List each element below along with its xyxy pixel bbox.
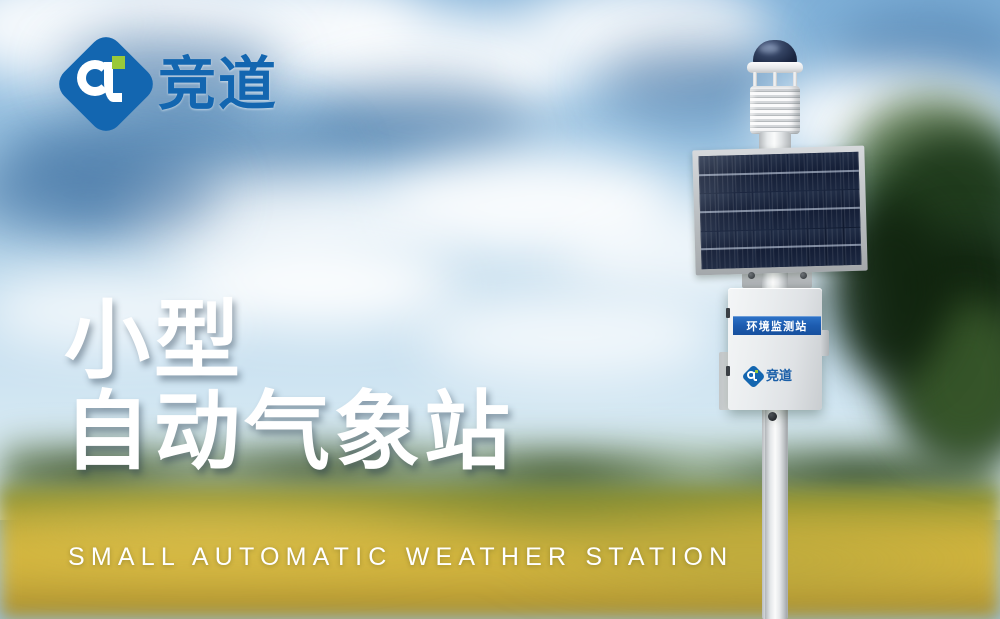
control-box-brand-text: 竞道 [766,370,792,383]
solar-panel [692,146,867,276]
brand-logo[interactable]: 竞道 [68,46,278,122]
brand-name: 竞道 [158,55,278,113]
jingdao-diamond-logo-icon [745,368,762,385]
mount-bolt [800,272,807,279]
connector-port [726,366,730,376]
control-box-right-tab [820,330,829,356]
logo-green-square [112,56,125,69]
control-box [728,288,822,410]
product-banner: 环境监测站 竞道 [0,0,1000,619]
control-box-banner: 环境监测站 [733,316,821,335]
headline-line-2: 自动气象站 [64,387,514,478]
radiation-shield [750,86,800,134]
jingdao-diamond-logo-icon [68,46,144,122]
subtitle: SMALL AUTOMATIC WEATHER STATION [68,543,733,572]
solar-cells [698,152,861,269]
mounting-pole-lower [765,410,787,619]
control-box-brand: 竞道 [745,368,792,385]
headline: 小型 自动气象站 [64,296,514,478]
mount-bolt [748,272,755,279]
headline-line-1: 小型 [64,296,514,387]
pole-bolt [768,412,777,421]
connector-port [726,308,730,318]
solar-panel-frame [692,146,867,276]
control-box-banner-text: 环境监测站 [747,318,808,334]
